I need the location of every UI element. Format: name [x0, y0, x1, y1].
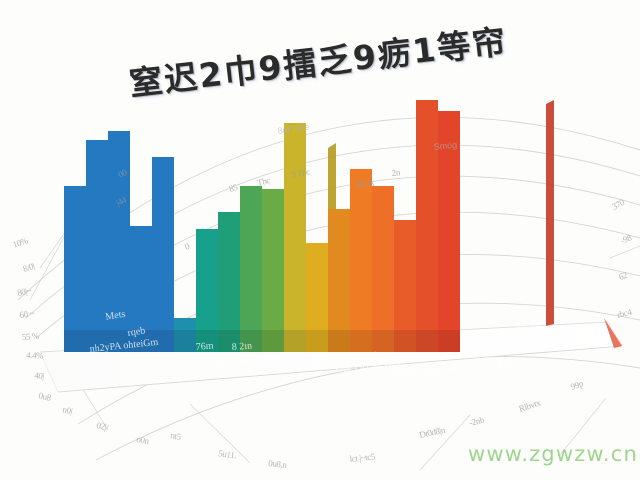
svg-text:0: 0	[183, 241, 191, 252]
svg-text:8/0|: 8/0|	[22, 261, 37, 274]
bar	[350, 169, 372, 352]
svg-text:5u11.: 5u11.	[218, 448, 237, 460]
svg-text:0u8,n: 0u8,n	[268, 458, 288, 470]
svg-text:n0|: n0|	[62, 404, 74, 416]
svg-text:55 %: 55 %	[21, 331, 40, 342]
svg-text:40|: 40|	[34, 370, 45, 381]
svg-text:o0n: o0n	[136, 434, 151, 446]
svg-text:9ιε 8b: 9ιε 8b	[515, 320, 540, 333]
svg-text:80|~: 80|~	[16, 285, 32, 298]
chart-figure: 10% 8/0| 80|~ 60 ~ 55 % 4.4% 40| 00 |44 …	[0, 0, 640, 480]
bar	[372, 186, 394, 352]
svg-text:Dt0d8|n: Dt0d8|n	[418, 425, 446, 440]
bar	[86, 140, 108, 352]
svg-text:8 2ın: 8 2ın	[231, 341, 252, 353]
chart-svg: 10% 8/0| 80|~ 60 ~ 55 % 4.4% 40| 00 |44 …	[0, 0, 640, 480]
watermark: www.zgwzw.cn	[468, 442, 638, 466]
svg-text:85: 85	[228, 182, 240, 194]
bar	[262, 189, 284, 352]
svg-text:Tbc: Tbc	[256, 175, 271, 188]
svg-text:62: 62	[618, 270, 629, 282]
svg-text:2n: 2n	[391, 167, 401, 178]
svg-text:Rlbvtx: Rlbvtx	[518, 397, 543, 414]
bar	[64, 186, 86, 352]
svg-text:0u8: 0u8	[38, 390, 53, 403]
bar	[416, 100, 438, 352]
svg-text:-2nb: -2nb	[468, 414, 486, 428]
svg-text:4.4%: 4.4%	[26, 350, 44, 361]
svg-text:Aδjs β: Aδjs β	[352, 351, 379, 363]
svg-text:10%: 10%	[11, 235, 30, 250]
svg-text:lct |~tc5: lct |~tc5	[349, 451, 376, 464]
svg-text:-98: -98	[619, 232, 634, 246]
svg-text:370: 370	[610, 197, 626, 212]
svg-text:76m: 76m	[195, 340, 214, 353]
svg-text:nt5: nt5	[170, 430, 183, 442]
svg-text:02|/: 02|/	[96, 420, 110, 432]
bar	[152, 157, 174, 352]
bar	[240, 186, 262, 352]
bar	[284, 123, 306, 352]
svg-text:99p: 99p	[569, 378, 585, 392]
svg-text:60 ~: 60 ~	[19, 308, 35, 320]
